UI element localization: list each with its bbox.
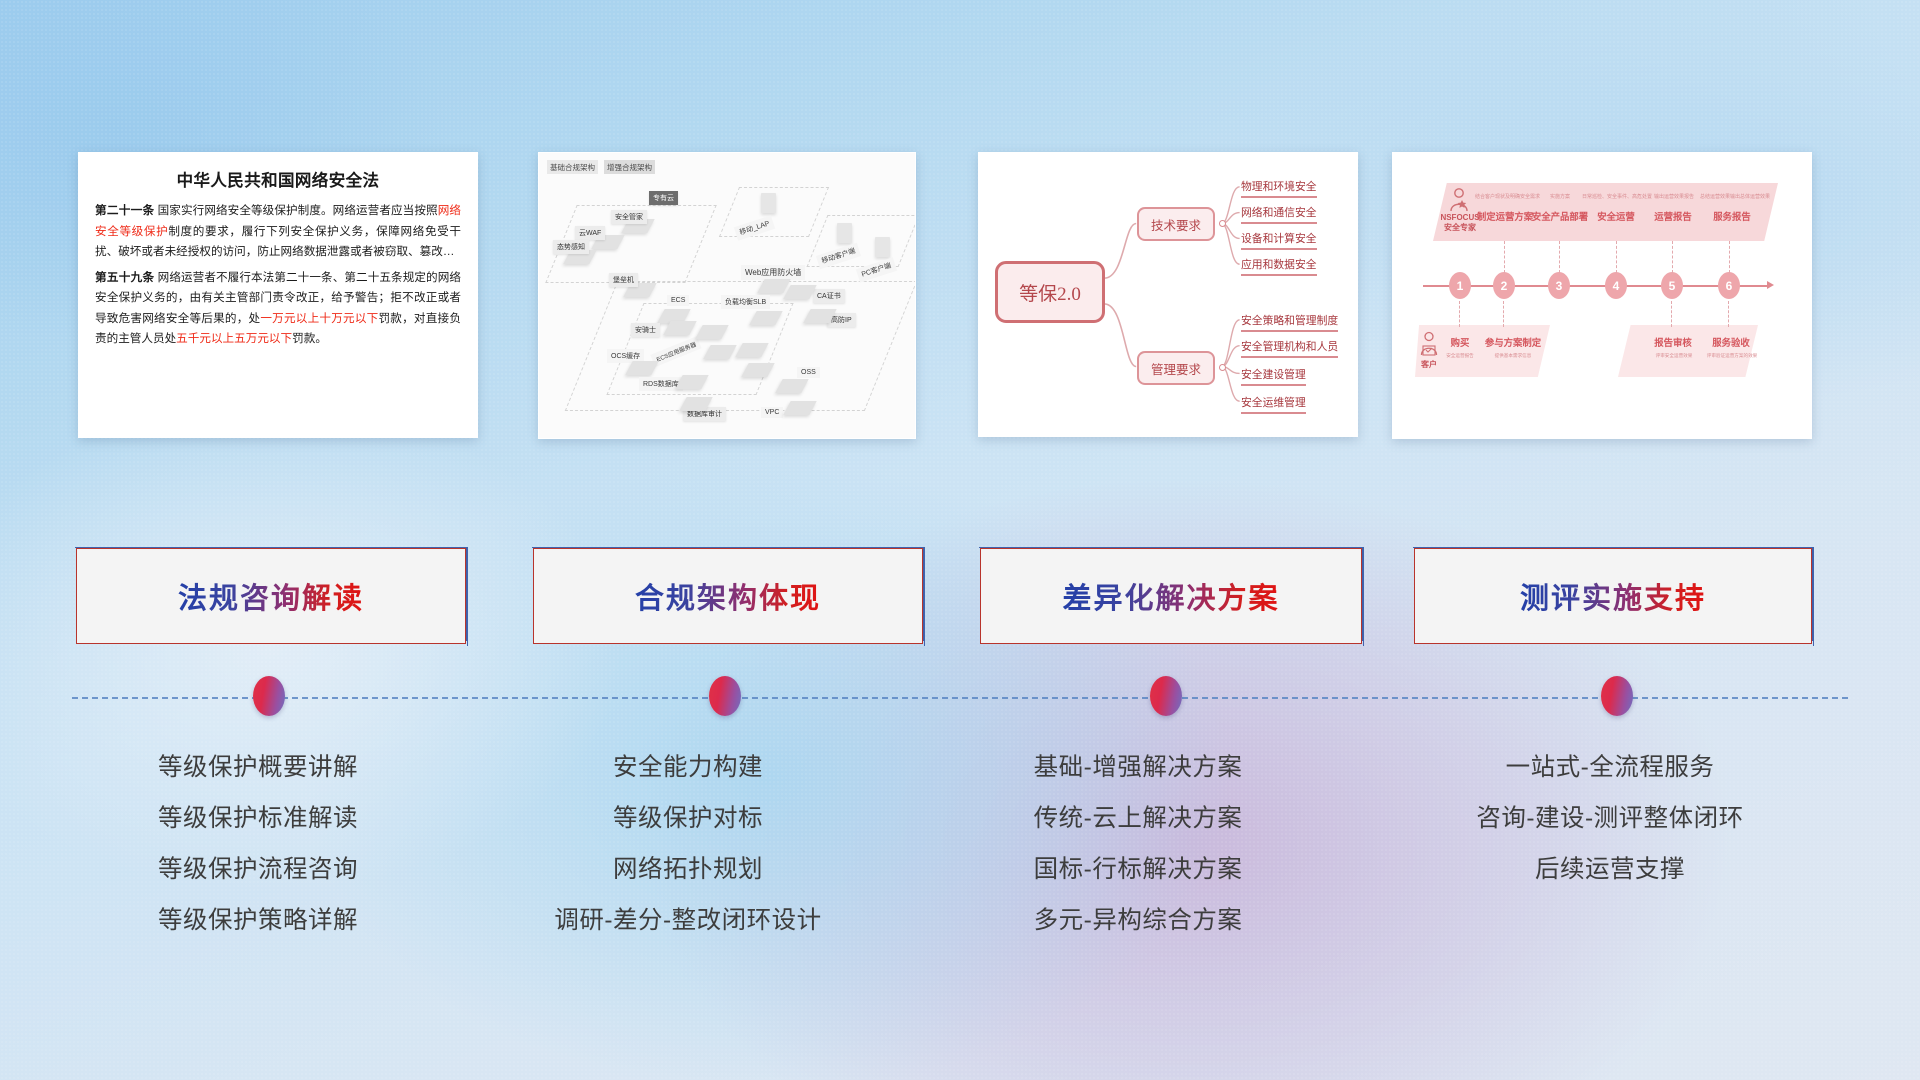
timeline-top-label-3: 安全产品部署	[1531, 209, 1589, 223]
list-item: 后续运营支撑	[1390, 844, 1830, 895]
article-21-text-1: 国家实行网络安全等级保护制度。网络运营者应当按照	[158, 204, 438, 217]
pillar-list-2: 安全能力构建 等级保护对标 网络拓扑规划 调研-差分-整改闭环设计	[478, 742, 898, 946]
timeline-node-4: 4	[1605, 272, 1627, 299]
mindmap-collapse-dot-technical[interactable]	[1219, 220, 1226, 227]
timeline-bottom-label-6: 服务验收	[1705, 335, 1757, 349]
timeline-node-1: 1	[1449, 272, 1471, 299]
pillar-detail-row: 等级保护概要讲解 等级保护标准解读 等级保护流程咨询 等级保护策略详解 安全能力…	[0, 742, 1920, 982]
timeline-link-bottom-6	[1728, 301, 1729, 327]
timeline-link-bottom-5	[1671, 301, 1672, 327]
mindmap-leaf-physical: 物理和环境安全	[1241, 178, 1317, 198]
mindmap-leaf-application: 应用和数据安全	[1241, 256, 1317, 276]
list-item: 等级保护对标	[478, 793, 898, 844]
pillar-title-box-2[interactable]: 合规架构体现	[533, 548, 923, 644]
rail-marker-4	[1601, 676, 1633, 716]
node-cloud-waf: 云WAF	[575, 226, 605, 240]
pillar-title-box-4[interactable]: 测评实施支持	[1414, 548, 1812, 644]
list-item: 咨询-建设-测评整体闭环	[1390, 793, 1830, 844]
timeline-link-bottom-1	[1459, 301, 1460, 327]
architecture-tab-basic: 基础合规架构	[547, 160, 598, 174]
pillar-list-4: 一站式-全流程服务 咨询-建设-测评整体闭环 后续运营支撑	[1390, 742, 1830, 895]
card-architecture-diagram: 基础合规架构 增强合规架构 专有云 安全管家 云WAF 态势感知 堡垒机 移动_	[538, 152, 916, 439]
law-document: 中华人民共和国网络安全法 第二十一条 国家实行网络安全等级保护制度。网络运营者应…	[79, 153, 477, 363]
card-cybersecurity-law: 中华人民共和国网络安全法 第二十一条 国家实行网络安全等级保护制度。网络运营者应…	[78, 152, 478, 438]
slide-stage: 中华人民共和国网络安全法 第二十一条 国家实行网络安全等级保护制度。网络运营者应…	[0, 0, 1920, 1080]
node-situation-awareness: 态势感知	[553, 240, 589, 254]
timeline-top-sub-2: 结合客户现状及明确安全需求	[1475, 193, 1535, 200]
timeline-top-sub-4: 日常巡检、安全事件、高危处置	[1581, 193, 1653, 200]
timeline-axis-arrow	[1767, 281, 1774, 289]
list-item: 等级保护流程咨询	[58, 844, 458, 895]
list-item: 等级保护策略详解	[58, 895, 458, 946]
node-slb: 负载均衡SLB	[721, 295, 770, 309]
list-item: 等级保护标准解读	[58, 793, 458, 844]
timeline-bottom-sub-6: 评审验证运营方案的效果	[1693, 353, 1771, 359]
mindmap-root-node: 等保2.0	[995, 261, 1105, 323]
rail-marker-3	[1150, 676, 1182, 716]
card-service-timeline: NSFOCUS安全专家 客户 1 2 3 4 5 6	[1392, 152, 1812, 439]
timeline-rail	[72, 697, 1848, 699]
timeline-top-label-4: 安全运营	[1591, 209, 1641, 223]
article-59-label: 第五十九条	[95, 271, 154, 284]
law-article-59: 第五十九条 网络运营者不履行本法第二十一条、第二十五条规定的网络安全保护义务的，…	[95, 268, 461, 350]
timeline-link-top-5	[1672, 241, 1673, 273]
mindmap-canvas: 等保2.0 技术要求 物理和环境安全 网络和通信安全 设备和计算安全 应用和数据…	[979, 153, 1357, 436]
node-ecs: ECS	[667, 295, 689, 306]
timeline-link-top-3	[1559, 241, 1560, 273]
timeline-bottom-sub-2: 提供基本需求信息	[1477, 353, 1549, 359]
timeline-top-sub-3: 实施方案	[1533, 193, 1587, 200]
pillar-title-2: 合规架构体现	[635, 575, 821, 617]
list-item: 网络拓扑规划	[478, 844, 898, 895]
node-bastion-host: 堡垒机	[609, 273, 638, 287]
icon-mobile-client	[837, 223, 852, 243]
rail-marker-1	[253, 676, 285, 716]
card-mindmap-dengbao: 等保2.0 技术要求 物理和环境安全 网络和通信安全 设备和计算安全 应用和数据…	[978, 152, 1358, 437]
mindmap-collapse-dot-management[interactable]	[1219, 364, 1226, 371]
timeline-top-sub-5: 输出运营效果报告	[1645, 193, 1703, 200]
timeline-top-label-5: 运营报告	[1649, 209, 1697, 223]
architecture-tab-group: 基础合规架构 增强合规架构	[547, 160, 655, 174]
pillar-title-1: 法规咨询解读	[178, 575, 364, 617]
architecture-canvas: 基础合规架构 增强合规架构 专有云 安全管家 云WAF 态势感知 堡垒机 移动_	[539, 153, 915, 438]
reference-card-row: 中华人民共和国网络安全法 第二十一条 国家实行网络安全等级保护制度。网络运营者应…	[0, 152, 1920, 442]
timeline-role-customer: 客户	[1415, 360, 1443, 370]
node-vpc: VPC	[761, 407, 783, 418]
timeline-node-5: 5	[1661, 272, 1683, 299]
rail-marker-2	[709, 676, 741, 716]
list-item: 等级保护概要讲解	[58, 742, 458, 793]
timeline-bottom-label-5: 报告审核	[1647, 335, 1699, 349]
icon-server-vpc	[783, 401, 816, 415]
mindmap-leaf-operation: 安全运维管理	[1241, 394, 1306, 414]
article-59-highlight-2: 五千元以上五万元以下	[176, 332, 292, 345]
timeline-link-top-4	[1616, 241, 1617, 273]
timeline-link-bottom-2	[1503, 301, 1504, 327]
pillar-list-3: 基础-增强解决方案 传统-云上解决方案 国标-行标解决方案 多元-异构综合方案	[928, 742, 1348, 946]
timeline-bottom-label-1: 购买	[1439, 335, 1481, 349]
node-web-app-firewall: Web应用防火墙	[741, 265, 805, 280]
node-oss: OSS	[797, 367, 820, 378]
timeline-link-top-2	[1504, 241, 1505, 273]
mindmap-branch-technical: 技术要求	[1137, 207, 1215, 241]
mindmap-leaf-device: 设备和计算安全	[1241, 230, 1317, 250]
timeline-link-top-6	[1729, 241, 1730, 273]
timeline-node-3: 3	[1548, 272, 1570, 299]
timeline-node-6: 6	[1718, 272, 1740, 299]
list-item: 国标-行标解决方案	[928, 844, 1348, 895]
pillar-title-box-1[interactable]: 法规咨询解读	[76, 548, 466, 644]
list-item: 传统-云上解决方案	[928, 793, 1348, 844]
pillar-title-box-3[interactable]: 差异化解决方案	[980, 548, 1362, 644]
timeline-band-customer-right	[1618, 325, 1758, 377]
pillar-title-4: 测评实施支持	[1520, 575, 1706, 617]
mindmap-branch-management: 管理要求	[1137, 351, 1215, 385]
list-item: 基础-增强解决方案	[928, 742, 1348, 793]
law-title: 中华人民共和国网络安全法	[95, 167, 461, 191]
law-article-21: 第二十一条 国家实行网络安全等级保护制度。网络运营者应当按照网络安全等级保护制度…	[95, 201, 461, 263]
node-security-butler: 安全管家	[611, 210, 647, 224]
timeline-axis	[1423, 285, 1768, 287]
timeline-bottom-label-2: 参与方案制定	[1481, 335, 1545, 349]
timeline-top-sub-6: 总结运营效果输出总体运营效果	[1697, 193, 1773, 200]
pillar-title-row: 法规咨询解读 合规架构体现 差异化解决方案 测评实施支持	[0, 548, 1920, 648]
node-ca-certificate: CA证书	[813, 289, 845, 303]
timeline-top-label-6: 服务报告	[1707, 209, 1757, 223]
mindmap-leaf-construction: 安全建设管理	[1241, 366, 1306, 386]
timeline-canvas: NSFOCUS安全专家 客户 1 2 3 4 5 6	[1393, 153, 1811, 438]
mindmap-leaf-network: 网络和通信安全	[1241, 204, 1317, 224]
icon-pc-client	[875, 237, 890, 257]
article-21-label: 第二十一条	[95, 204, 154, 217]
node-private-cloud: 专有云	[649, 191, 678, 205]
pillar-title-3: 差异化解决方案	[1062, 575, 1279, 617]
list-item: 多元-异构综合方案	[928, 895, 1348, 946]
article-59-text-3: 罚款。	[292, 332, 327, 345]
list-item: 调研-差分-整改闭环设计	[478, 895, 898, 946]
icon-mobile-device	[761, 193, 776, 213]
pillar-list-1: 等级保护概要讲解 等级保护标准解读 等级保护流程咨询 等级保护策略详解	[58, 742, 458, 946]
architecture-tab-enhanced: 增强合规架构	[604, 160, 655, 174]
list-item: 一站式-全流程服务	[1390, 742, 1830, 793]
node-anqishi: 安骑士	[631, 323, 660, 337]
mindmap-leaf-org: 安全管理机构和人员	[1241, 338, 1338, 358]
mindmap-leaf-policy: 安全策略和管理制度	[1241, 312, 1338, 332]
expert-person-icon	[1448, 187, 1470, 213]
list-item: 安全能力构建	[478, 742, 898, 793]
timeline-top-label-2: 制定运营方案	[1475, 209, 1535, 223]
article-59-highlight-1: 一万元以上十万元以下	[260, 312, 378, 325]
timeline-node-2: 2	[1493, 272, 1515, 299]
